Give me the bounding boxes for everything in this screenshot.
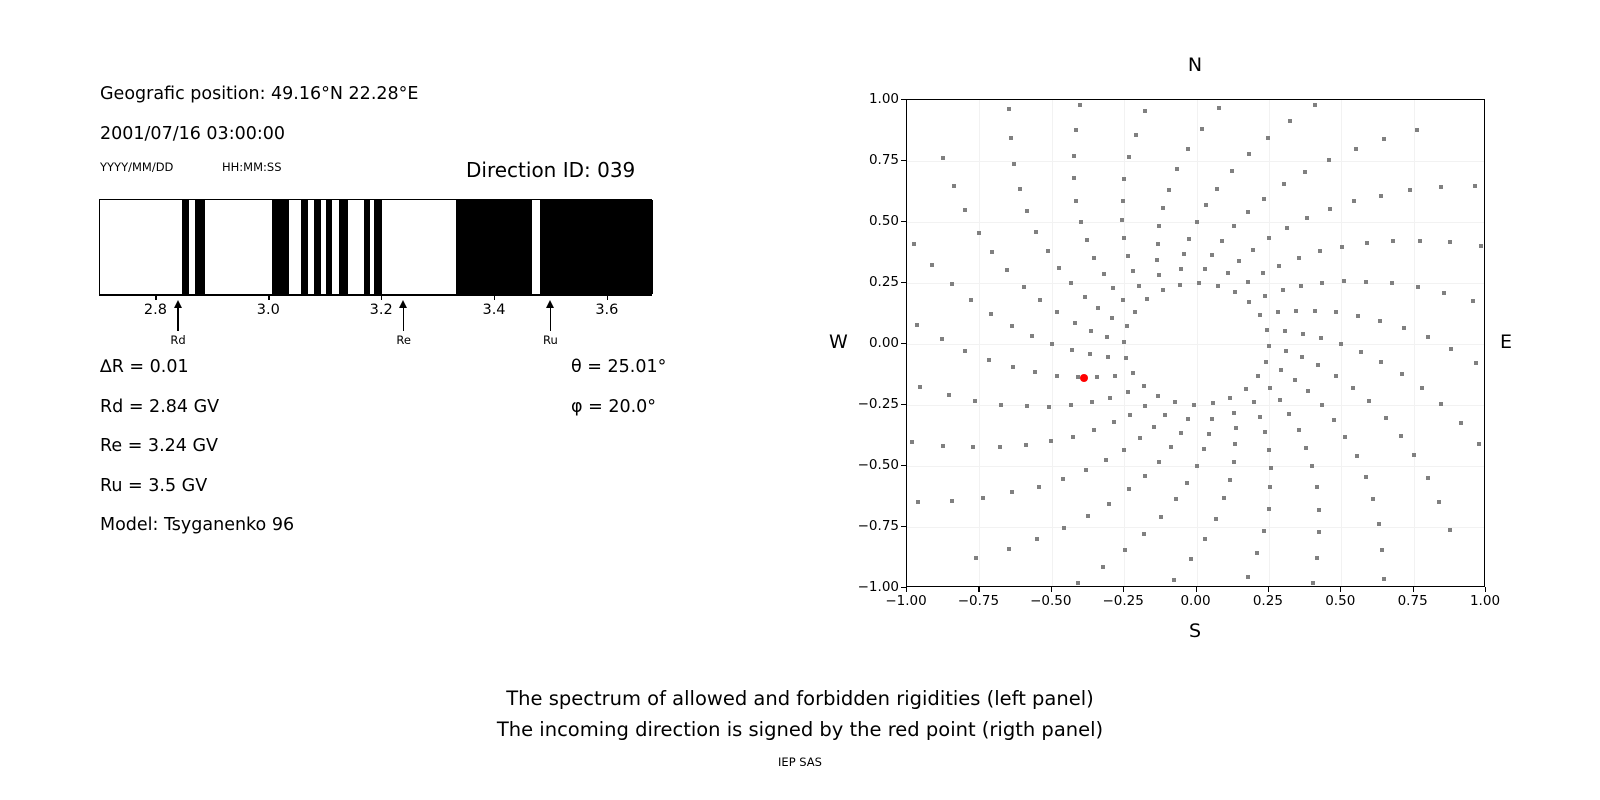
scatter-point	[1261, 271, 1265, 275]
scatter-point	[1157, 460, 1161, 464]
scatter-point	[1281, 288, 1285, 292]
scatter-point	[1399, 434, 1403, 438]
scatter-point	[1009, 136, 1013, 140]
scatter-point	[1246, 280, 1250, 284]
scatter-point	[1161, 288, 1165, 292]
scatter-point	[1069, 281, 1073, 285]
scatter-point	[1083, 295, 1087, 299]
scatter-point	[910, 440, 914, 444]
scatter-point	[1320, 403, 1324, 407]
time-format-hint: HH:MM:SS	[222, 160, 282, 174]
scatter-point	[1244, 387, 1248, 391]
scatter-point	[1128, 413, 1132, 417]
scatter-point	[1163, 413, 1167, 417]
scatter-point	[1200, 127, 1204, 131]
scatter-point	[1282, 182, 1286, 186]
scatter-point	[971, 445, 975, 449]
scatter-point	[987, 358, 991, 362]
scatter-point	[1071, 435, 1075, 439]
scatter-point	[1186, 417, 1190, 421]
y-tick-label: 0.50	[869, 213, 899, 229]
annotation-arrow-line	[177, 307, 178, 331]
forbidden-band	[272, 200, 289, 294]
scatter-point	[1317, 530, 1321, 534]
scatter-point	[1262, 529, 1266, 533]
scatter-point	[1011, 365, 1015, 369]
x-tick-mark	[1123, 587, 1124, 592]
y-tick-label: 0.00	[869, 335, 899, 351]
scatter-point	[1157, 273, 1161, 277]
scatter-point	[1179, 431, 1183, 435]
scatter-point	[1182, 252, 1186, 256]
scatter-point	[1382, 577, 1386, 581]
footer-credit: IEP SAS	[0, 755, 1600, 769]
scatter-point	[1155, 258, 1159, 262]
y-tick-mark	[901, 282, 906, 283]
scatter-point	[1277, 264, 1281, 268]
parameter-text: Model: Tsyganenko 96	[100, 515, 294, 535]
scatter-point	[1320, 281, 1324, 285]
scatter-point	[1439, 185, 1443, 189]
scatter-point	[1062, 526, 1066, 530]
scatter-point	[1334, 374, 1338, 378]
scatter-point	[1474, 361, 1478, 365]
scatter-point	[1034, 230, 1038, 234]
scatter-point	[1234, 426, 1238, 430]
scatter-point	[950, 282, 954, 286]
scatter-point	[1310, 464, 1314, 468]
scatter-point	[1022, 285, 1026, 289]
scatter-point	[1169, 445, 1173, 449]
x-tick-label: −1.00	[885, 593, 926, 609]
scatter-point	[1297, 428, 1301, 432]
scatter-point	[1232, 224, 1236, 228]
scatter-point	[1477, 442, 1481, 446]
scatter-point	[1133, 310, 1137, 314]
scatter-point	[1126, 390, 1130, 394]
x-tick-mark	[1340, 587, 1341, 592]
scatter-point	[950, 499, 954, 503]
scatter-point	[1267, 236, 1271, 240]
x-tick-mark	[1413, 587, 1414, 592]
caption-line-1: The spectrum of allowed and forbidden ri…	[0, 687, 1600, 710]
scatter-point	[1131, 371, 1135, 375]
scatter-point	[1303, 170, 1307, 174]
scatter-point	[1263, 294, 1267, 298]
scatter-point	[1384, 416, 1388, 420]
geographic-position-text: Geografic position: 49.16°N 22.28°E	[100, 84, 418, 104]
scatter-point	[1105, 335, 1109, 339]
scatter-point	[1377, 522, 1381, 526]
scatter-point	[1156, 394, 1160, 398]
scatter-point	[1442, 291, 1446, 295]
scatter-point	[1050, 342, 1054, 346]
scatter-point	[1232, 411, 1236, 415]
scatter-point	[1057, 266, 1061, 270]
scatter-point	[1120, 218, 1124, 222]
scatter-point	[1122, 448, 1126, 452]
scatter-point	[1090, 400, 1094, 404]
forbidden-band	[182, 200, 189, 294]
scatter-point	[1220, 239, 1224, 243]
scatter-point	[1179, 267, 1183, 271]
scatter-point	[1380, 548, 1384, 552]
scatter-point	[1122, 177, 1126, 181]
scatter-point	[990, 250, 994, 254]
scatter-point	[912, 242, 916, 246]
scatter-point	[1263, 430, 1267, 434]
y-tick-label: 1.00	[869, 91, 899, 107]
scatter-point	[1202, 447, 1206, 451]
scatter-point	[1378, 319, 1382, 323]
scatter-point	[1055, 310, 1059, 314]
scatter-point	[1203, 537, 1207, 541]
scatter-point	[1301, 332, 1305, 336]
scatter-point	[1025, 209, 1029, 213]
parameter-text: ∆R = 0.01	[100, 357, 189, 377]
annotation-label: Re	[396, 333, 411, 347]
y-tick-label: −0.50	[858, 457, 899, 473]
scatter-point	[1214, 517, 1218, 521]
scatter-point	[1174, 497, 1178, 501]
forbidden-band	[374, 200, 381, 294]
scatter-point	[1143, 109, 1147, 113]
scatter-point	[941, 156, 945, 160]
scatter-point	[1294, 309, 1298, 313]
scatter-point	[1175, 167, 1179, 171]
scatter-point	[1412, 453, 1416, 457]
scatter-point	[1046, 249, 1050, 253]
scatter-point	[977, 231, 981, 235]
scatter-point	[1178, 283, 1182, 287]
direction-scatter-chart: N S W E −1.00−0.75−0.50−0.250.000.250.50…	[906, 99, 1485, 587]
scatter-point	[1185, 481, 1189, 485]
scatter-point	[998, 445, 1002, 449]
x-tick-label: 0.75	[1398, 593, 1428, 609]
parameter-text: φ = 20.0°	[571, 397, 656, 417]
scatter-point	[1195, 464, 1199, 468]
scatter-point	[1070, 348, 1074, 352]
gridline	[907, 344, 1484, 345]
scatter-point	[989, 312, 993, 316]
scatter-point	[1420, 386, 1424, 390]
scatter-point	[947, 393, 951, 397]
scatter-point	[1010, 324, 1014, 328]
forbidden-band	[326, 200, 333, 294]
scatter-point	[1247, 300, 1251, 304]
scatter-point	[1365, 241, 1369, 245]
y-tick-mark	[901, 99, 906, 100]
spectrum-bar	[99, 199, 652, 295]
scatter-point	[1355, 454, 1359, 458]
scatter-point	[1096, 306, 1100, 310]
forbidden-band	[301, 200, 308, 294]
scatter-point	[1122, 340, 1126, 344]
scatter-point	[1379, 194, 1383, 198]
scatter-point	[1192, 403, 1196, 407]
scatter-point	[1287, 412, 1291, 416]
scatter-point	[1092, 256, 1096, 260]
scatter-point	[1230, 169, 1234, 173]
annotation-label: Ru	[543, 333, 558, 347]
scatter-point	[1237, 259, 1241, 263]
scatter-point	[1226, 271, 1230, 275]
scatter-point	[1252, 400, 1256, 404]
scatter-point	[1085, 238, 1089, 242]
scatter-point	[1095, 375, 1099, 379]
scatter-point	[1284, 349, 1288, 353]
scatter-point	[952, 184, 956, 188]
scatter-point	[1033, 370, 1037, 374]
gridline	[1197, 100, 1198, 586]
scatter-point	[941, 444, 945, 448]
scatter-point	[1267, 507, 1271, 511]
scatter-point	[1400, 372, 1404, 376]
scatter-point	[1107, 502, 1111, 506]
x-tick-label: 0.25	[1253, 593, 1283, 609]
scatter-point	[1288, 119, 1292, 123]
scatter-point	[915, 323, 919, 327]
scatter-point	[1127, 487, 1131, 491]
forbidden-band	[195, 200, 205, 294]
parameter-text: Re = 3.24 GV	[100, 436, 218, 456]
scatter-point	[1126, 254, 1130, 258]
scatter-point	[1327, 158, 1331, 162]
scatter-point	[1197, 281, 1201, 285]
scatter-point	[963, 349, 967, 353]
scatter-point	[1007, 547, 1011, 551]
scatter-point	[1342, 279, 1346, 283]
scatter-point	[1262, 197, 1266, 201]
scatter-point	[1391, 239, 1395, 243]
scatter-point	[1157, 224, 1161, 228]
scatter-point	[1390, 281, 1394, 285]
scatter-point	[1047, 405, 1051, 409]
forbidden-band	[540, 200, 653, 294]
scatter-point	[1024, 443, 1028, 447]
scatter-point	[1268, 485, 1272, 489]
scatter-point	[1247, 152, 1251, 156]
caption-line-2: The incoming direction is signed by the …	[0, 718, 1600, 741]
scatter-point	[1311, 581, 1315, 585]
scatter-point	[1316, 363, 1320, 367]
scatter-point	[1479, 244, 1483, 248]
scatter-point	[1328, 207, 1332, 211]
scatter-point	[1210, 253, 1214, 257]
scatter-point	[1137, 284, 1141, 288]
x-tick-mark	[906, 587, 907, 592]
scatter-point	[1211, 401, 1215, 405]
scatter-point	[1122, 236, 1126, 240]
scatter-point	[1364, 475, 1368, 479]
scatter-point	[1092, 428, 1096, 432]
gridline	[907, 283, 1484, 284]
scatter-point	[1313, 309, 1317, 313]
scatter-point	[918, 385, 922, 389]
y-tick-mark	[901, 343, 906, 344]
scatter-point	[1258, 415, 1262, 419]
scatter-point	[1304, 446, 1308, 450]
scatter-point	[973, 399, 977, 403]
scatter-point	[1035, 537, 1039, 541]
y-tick-label: −0.25	[858, 396, 899, 412]
scatter-point	[1005, 268, 1009, 272]
scatter-point	[1195, 220, 1199, 224]
compass-label-west: W	[829, 331, 848, 353]
scatter-point	[963, 208, 967, 212]
scatter-point	[1143, 404, 1147, 408]
rigidity-spectrum-chart	[99, 199, 652, 295]
annotation-arrow-line	[550, 307, 551, 331]
scatter-point	[1297, 256, 1301, 260]
scatter-point	[1145, 297, 1149, 301]
scatter-point	[1319, 336, 1323, 340]
scatter-point	[1121, 199, 1125, 203]
scatter-point	[1025, 404, 1029, 408]
scatter-point	[1437, 500, 1441, 504]
y-tick-label: 0.25	[869, 274, 899, 290]
x-tick-mark	[1196, 587, 1197, 592]
scatter-point	[1339, 342, 1343, 346]
scatter-point	[1187, 237, 1191, 241]
scatter-point	[1367, 399, 1371, 403]
forbidden-band	[314, 200, 321, 294]
scatter-point	[1173, 400, 1177, 404]
scatter-point	[1084, 468, 1088, 472]
gridline	[1269, 100, 1270, 586]
scatter-point	[1125, 324, 1129, 328]
scatter-point	[1113, 374, 1117, 378]
scatter-point	[1207, 432, 1211, 436]
scatter-point	[1111, 286, 1115, 290]
scatter-point	[1299, 284, 1303, 288]
x-tick-label: 1.00	[1470, 593, 1500, 609]
scatter-point	[1159, 515, 1163, 519]
scatter-point	[1030, 334, 1034, 338]
scatter-point	[1315, 556, 1319, 560]
scatter-point	[1356, 314, 1360, 318]
scatter-point	[1055, 374, 1059, 378]
scatter-point	[930, 263, 934, 267]
scatter-point	[1276, 310, 1280, 314]
scatter-point	[1340, 245, 1344, 249]
scatter-point	[1104, 458, 1108, 462]
scatter-point	[1215, 187, 1219, 191]
scatter-point	[1106, 355, 1110, 359]
compass-label-east: E	[1500, 331, 1512, 353]
scatter-point	[1233, 290, 1237, 294]
scatter-point	[1138, 436, 1142, 440]
y-tick-mark	[901, 160, 906, 161]
scatter-point	[1267, 344, 1271, 348]
scatter-point	[1203, 267, 1207, 271]
scatter-point	[1258, 313, 1262, 317]
scatter-point	[1088, 352, 1092, 356]
scatter-point	[1228, 396, 1232, 400]
polar-axes	[906, 99, 1485, 587]
parameter-text: θ = 25.01°	[571, 357, 666, 377]
scatter-point	[1334, 310, 1338, 314]
scatter-point	[1382, 137, 1386, 141]
scatter-point	[1167, 188, 1171, 192]
scatter-point	[1131, 269, 1135, 273]
scatter-point	[1354, 147, 1358, 151]
scatter-point	[1255, 551, 1259, 555]
x-tick-label: −0.50	[1030, 593, 1071, 609]
scatter-point	[1189, 557, 1193, 561]
scatter-point	[1256, 374, 1260, 378]
scatter-point	[1415, 128, 1419, 132]
scatter-point	[1072, 176, 1076, 180]
scatter-point	[1152, 425, 1156, 429]
scatter-point	[1269, 466, 1273, 470]
scatter-point	[1061, 477, 1065, 481]
compass-label-south: S	[1189, 620, 1201, 642]
scatter-point	[1285, 226, 1289, 230]
scatter-point	[1101, 565, 1105, 569]
scatter-point	[1265, 328, 1269, 332]
annotation-label: Rd	[170, 333, 185, 347]
scatter-point	[1408, 188, 1412, 192]
scatter-point	[1134, 133, 1138, 137]
scatter-point	[1110, 316, 1114, 320]
scatter-point	[1156, 242, 1160, 246]
scatter-point	[1448, 240, 1452, 244]
scatter-point	[974, 556, 978, 560]
scatter-point	[1204, 203, 1208, 207]
scatter-point	[1306, 389, 1310, 393]
scatter-point	[1172, 578, 1176, 582]
scatter-point	[1108, 396, 1112, 400]
scatter-point	[1315, 485, 1319, 489]
y-tick-mark	[901, 404, 906, 405]
scatter-point	[1371, 497, 1375, 501]
y-tick-label: 0.75	[869, 152, 899, 168]
scatter-point	[1228, 478, 1232, 482]
scatter-point	[1086, 514, 1090, 518]
scatter-point	[1143, 474, 1147, 478]
scatter-point	[1278, 398, 1282, 402]
scatter-point	[1102, 272, 1106, 276]
scatter-point	[1049, 439, 1053, 443]
x-tick-label: 0.00	[1180, 593, 1210, 609]
scatter-point	[1473, 184, 1477, 188]
gridline	[1414, 100, 1415, 586]
scatter-point	[1123, 548, 1127, 552]
scatter-point	[1266, 136, 1270, 140]
scatter-point	[1037, 485, 1041, 489]
parameter-text: Rd = 2.84 GV	[100, 397, 219, 417]
spectrum-annotation-group: RdReRu	[99, 296, 652, 356]
x-tick-mark	[1485, 587, 1486, 592]
scatter-point	[1210, 417, 1214, 421]
scatter-point	[1186, 147, 1190, 151]
forbidden-band	[364, 200, 370, 294]
x-tick-label: 0.50	[1325, 593, 1355, 609]
datetime-text: 2001/07/16 03:00:00	[100, 124, 285, 144]
scatter-point	[1074, 199, 1078, 203]
scatter-point	[1459, 421, 1463, 425]
scatter-point	[1313, 103, 1317, 107]
scatter-point	[1161, 206, 1165, 210]
scatter-point	[1268, 386, 1272, 390]
scatter-point	[1078, 103, 1082, 107]
compass-label-north: N	[1188, 54, 1202, 76]
scatter-point	[1267, 448, 1271, 452]
x-tick-label: −0.25	[1102, 593, 1143, 609]
scatter-point	[1300, 355, 1304, 359]
scatter-point	[1416, 285, 1420, 289]
